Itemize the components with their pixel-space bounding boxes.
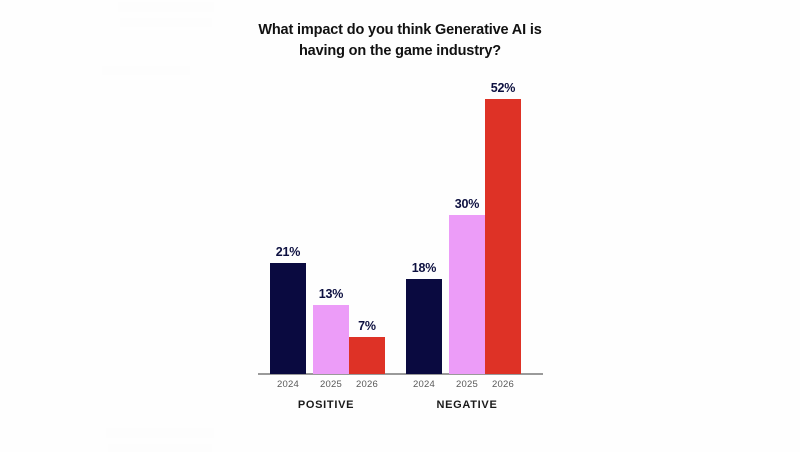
tick-label-2024-positive: 2024 [265, 379, 311, 390]
bar-value-label: 18% [412, 261, 436, 275]
tick-label-2026-positive: 2026 [344, 379, 390, 390]
chart-root: What impact do you think Generative AI i… [0, 0, 800, 450]
bar-rect [485, 99, 521, 374]
bar-rect [313, 305, 349, 374]
bar-value-label: 52% [491, 81, 515, 95]
bar-value-label: 13% [319, 287, 343, 301]
bar-rect [449, 215, 485, 374]
group-label-negative: NEGATIVE [387, 399, 547, 411]
bar-rect [349, 337, 385, 374]
plot-area: 21% 13% 7% 2024 2025 2026 POSITIVE 18% [0, 0, 800, 450]
bar-value-label: 7% [358, 319, 376, 333]
group-label-positive: POSITIVE [246, 399, 406, 411]
bar-rect [270, 263, 306, 374]
bar-rect [406, 279, 442, 374]
bar-value-label: 30% [455, 197, 479, 211]
tick-label-2024-negative: 2024 [401, 379, 447, 390]
bar-value-label: 21% [276, 245, 300, 259]
tick-label-2026-negative: 2026 [480, 379, 526, 390]
